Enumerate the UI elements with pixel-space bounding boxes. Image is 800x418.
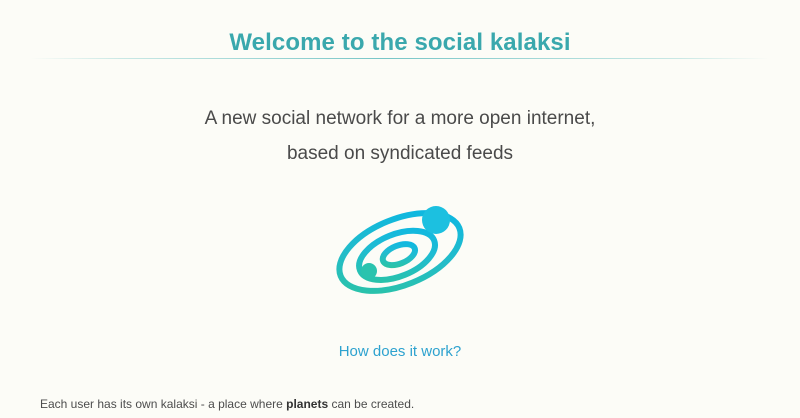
planet-large — [422, 206, 450, 234]
footer-note-suffix: can be created. — [328, 397, 414, 411]
intro-line-2: based on syndicated feeds — [0, 136, 800, 171]
intro-text: A new social network for a more open int… — [0, 101, 800, 171]
logo-container — [0, 200, 800, 300]
footer-note: Each user has its own kalaksi - a place … — [40, 397, 414, 411]
page-title: Welcome to the social kalaksi — [0, 29, 800, 57]
footer-note-planets-keyword: planets — [286, 397, 328, 411]
footer-note-prefix: Each user has its own kalaksi - a place … — [40, 397, 286, 411]
orbit-ring-inner — [380, 240, 418, 269]
kalaksi-galaxy-logo-icon — [330, 202, 470, 298]
how-it-works-row: How does it work? — [0, 343, 800, 361]
welcome-page: Welcome to the social kalaksi A new soci… — [0, 0, 800, 418]
planet-small — [361, 263, 377, 279]
how-does-it-work-link[interactable]: How does it work? — [339, 343, 462, 360]
intro-line-1: A new social network for a more open int… — [0, 101, 800, 136]
title-divider — [30, 58, 770, 59]
